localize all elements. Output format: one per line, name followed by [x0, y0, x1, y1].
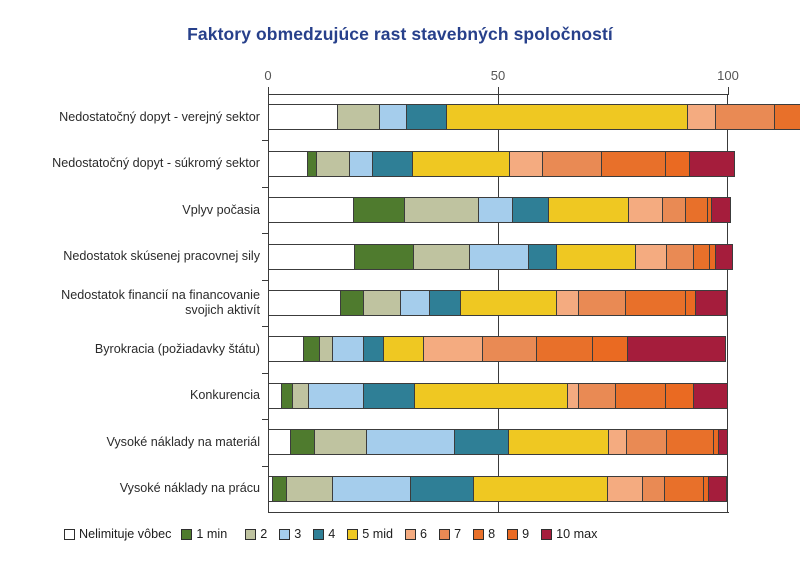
bar-segment[interactable]	[718, 429, 728, 455]
legend-label: 4	[328, 527, 335, 541]
legend-item[interactable]: 6	[405, 527, 427, 541]
legend-swatch	[64, 529, 75, 540]
bar-row[interactable]	[268, 383, 728, 409]
bar-segment[interactable]	[363, 383, 415, 409]
bar-segment[interactable]	[578, 290, 626, 316]
legend-swatch	[507, 529, 518, 540]
bar-segment[interactable]	[413, 244, 470, 270]
category-label: Nedostatok financií na financovanie svoj…	[16, 288, 268, 318]
bar-segment[interactable]	[607, 476, 644, 502]
bar-segment[interactable]	[509, 151, 542, 177]
bar-segment[interactable]	[608, 429, 627, 455]
bar-segment[interactable]	[460, 290, 557, 316]
bar-segment[interactable]	[268, 104, 338, 130]
bar-segment[interactable]	[687, 104, 716, 130]
legend-label: 9	[522, 527, 529, 541]
bar-segment[interactable]	[693, 244, 710, 270]
legend-swatch	[439, 529, 450, 540]
bar-segment[interactable]	[366, 429, 455, 455]
legend-swatch	[405, 529, 416, 540]
bar-segment[interactable]	[363, 290, 401, 316]
bar-segment[interactable]	[268, 383, 282, 409]
legend-label: 8	[488, 527, 495, 541]
legend-item[interactable]: 1 min	[181, 527, 227, 541]
category-tick	[262, 373, 269, 374]
legend-swatch	[473, 529, 484, 540]
bar-segment[interactable]	[478, 197, 513, 223]
legend-swatch	[245, 529, 256, 540]
bar-segment[interactable]	[332, 336, 364, 362]
bar-segment[interactable]	[286, 476, 333, 502]
legend-item[interactable]: 5 mid	[347, 527, 393, 541]
bar-segment[interactable]	[400, 290, 430, 316]
category-label: Byrokracia (požiadavky štátu)	[16, 342, 268, 357]
legend-item[interactable]: 3	[279, 527, 301, 541]
bar-segment[interactable]	[508, 429, 610, 455]
bar-segment[interactable]	[625, 290, 686, 316]
bar-segment[interactable]	[642, 476, 665, 502]
bar-segment[interactable]	[372, 151, 413, 177]
bar-segment[interactable]	[528, 244, 557, 270]
legend-item[interactable]: 8	[473, 527, 495, 541]
bar-segment[interactable]	[665, 383, 694, 409]
bar-segment[interactable]	[774, 104, 800, 130]
bar-segment[interactable]	[423, 336, 484, 362]
bar-segment[interactable]	[410, 476, 474, 502]
category-label: Nedostatočný dopyt - verejný sektor	[16, 110, 268, 125]
legend-item[interactable]: 9	[507, 527, 529, 541]
bar-segment[interactable]	[662, 197, 686, 223]
category-label: Vysoké náklady na prácu	[16, 481, 268, 496]
bar-segment[interactable]	[404, 197, 479, 223]
x-tick-label: 100	[717, 68, 739, 83]
x-tick-label: 0	[264, 68, 271, 83]
bar-segment[interactable]	[693, 383, 727, 409]
legend-label: 7	[454, 527, 461, 541]
legend-label: 6	[420, 527, 427, 541]
bar-segment[interactable]	[627, 336, 726, 362]
bar-segment[interactable]	[414, 383, 568, 409]
legend-swatch	[541, 529, 552, 540]
category-label: Konkurencia	[16, 388, 268, 403]
bar-segment[interactable]	[626, 429, 667, 455]
x-axis-bottom-line	[268, 512, 729, 513]
bar-segment[interactable]	[482, 336, 537, 362]
bar-segment[interactable]	[268, 336, 304, 362]
category-tick	[262, 419, 269, 420]
bar-segment[interactable]	[319, 336, 333, 362]
bar-segment[interactable]	[268, 244, 355, 270]
bar-segment[interactable]	[473, 476, 608, 502]
category-tick	[262, 280, 269, 281]
category-tick	[262, 233, 269, 234]
bar-segment[interactable]	[316, 151, 350, 177]
bar-segment[interactable]	[303, 336, 320, 362]
bar-segment[interactable]	[469, 244, 529, 270]
bar-segment[interactable]	[628, 197, 663, 223]
bar-segment[interactable]	[349, 151, 373, 177]
bar-segment[interactable]	[715, 244, 733, 270]
category-tick	[262, 466, 269, 467]
bar-segment[interactable]	[708, 476, 727, 502]
bar-segment[interactable]	[379, 104, 407, 130]
legend-label: 3	[294, 527, 301, 541]
bar-segment[interactable]	[666, 429, 714, 455]
bar-segment[interactable]	[615, 383, 666, 409]
legend-item[interactable]: 7	[439, 527, 461, 541]
bar-segment[interactable]	[695, 290, 727, 316]
bar-segment[interactable]	[292, 383, 309, 409]
bar-segment[interactable]	[332, 476, 411, 502]
chart-title: Faktory obmedzujúce rast stavebných spol…	[0, 24, 800, 45]
bar-segment[interactable]	[715, 104, 776, 130]
legend-item[interactable]: 2	[245, 527, 267, 541]
chart-container: Faktory obmedzujúce rast stavebných spol…	[0, 0, 800, 584]
bar-segment[interactable]	[578, 383, 616, 409]
bar-segment[interactable]	[664, 476, 703, 502]
bar-row[interactable]	[268, 104, 800, 130]
category-tick	[262, 140, 269, 141]
bar-segment[interactable]	[290, 429, 315, 455]
category-label: Vysoké náklady na materiál	[16, 435, 268, 450]
legend-item[interactable]: Nelimituje vôbec	[64, 527, 171, 541]
bar-segment[interactable]	[601, 151, 666, 177]
category-label: Vplyv počasia	[16, 203, 268, 218]
bar-segment[interactable]	[308, 383, 364, 409]
bar-segment[interactable]	[556, 244, 636, 270]
bar-segment[interactable]	[353, 197, 405, 223]
bar-segment[interactable]	[635, 244, 667, 270]
legend-swatch	[347, 529, 358, 540]
bar-segment[interactable]	[406, 104, 447, 130]
bar-segment[interactable]	[446, 104, 687, 130]
legend: Nelimituje vôbec1 min2345 mid678910 max	[64, 524, 764, 544]
bar-segment[interactable]	[268, 151, 308, 177]
bar-segment[interactable]	[272, 476, 287, 502]
bar-row[interactable]	[268, 476, 727, 502]
bar-segment[interactable]	[548, 197, 629, 223]
bar-segment[interactable]	[268, 290, 341, 316]
bar-segment[interactable]	[454, 429, 509, 455]
bar-segment[interactable]	[383, 336, 424, 362]
bar-segment[interactable]	[268, 197, 354, 223]
bar-segment[interactable]	[711, 197, 731, 223]
bar-segment[interactable]	[556, 290, 579, 316]
legend-label: 5 mid	[362, 527, 393, 541]
bar-row[interactable]	[268, 244, 733, 270]
legend-item[interactable]: 4	[313, 527, 335, 541]
legend-swatch	[313, 529, 324, 540]
bar-segment[interactable]	[689, 151, 735, 177]
category-tick	[262, 326, 269, 327]
bar-segment[interactable]	[429, 290, 461, 316]
legend-swatch	[279, 529, 290, 540]
plot-area	[268, 94, 728, 512]
bar-segment[interactable]	[314, 429, 367, 455]
bar-segment[interactable]	[340, 290, 364, 316]
bar-row[interactable]	[268, 336, 726, 362]
bar-segment[interactable]	[363, 336, 384, 362]
bar-row[interactable]	[268, 197, 731, 223]
bar-segment[interactable]	[536, 336, 593, 362]
category-tick	[262, 187, 269, 188]
bar-segment[interactable]	[354, 244, 414, 270]
bar-segment[interactable]	[268, 429, 291, 455]
bar-row[interactable]	[268, 290, 727, 316]
legend-label: 2	[260, 527, 267, 541]
legend-label: 10 max	[556, 527, 597, 541]
legend-label: Nelimituje vôbec	[79, 527, 171, 541]
bar-segment[interactable]	[665, 151, 690, 177]
legend-item[interactable]: 10 max	[541, 527, 597, 541]
bar-segment[interactable]	[337, 104, 380, 130]
x-tick-label: 50	[491, 68, 505, 83]
category-label: Nedostatočný dopyt - súkromý sektor	[16, 156, 268, 171]
bar-row[interactable]	[268, 151, 735, 177]
bar-segment[interactable]	[542, 151, 603, 177]
bar-segment[interactable]	[512, 197, 549, 223]
category-label: Nedostatok skúsenej pracovnej sily	[16, 249, 268, 264]
legend-label: 1 min	[196, 527, 227, 541]
bar-row[interactable]	[268, 429, 728, 455]
legend-swatch	[181, 529, 192, 540]
bar-segment[interactable]	[412, 151, 510, 177]
bar-segment[interactable]	[685, 197, 708, 223]
bar-segment[interactable]	[666, 244, 694, 270]
bar-segment[interactable]	[592, 336, 628, 362]
